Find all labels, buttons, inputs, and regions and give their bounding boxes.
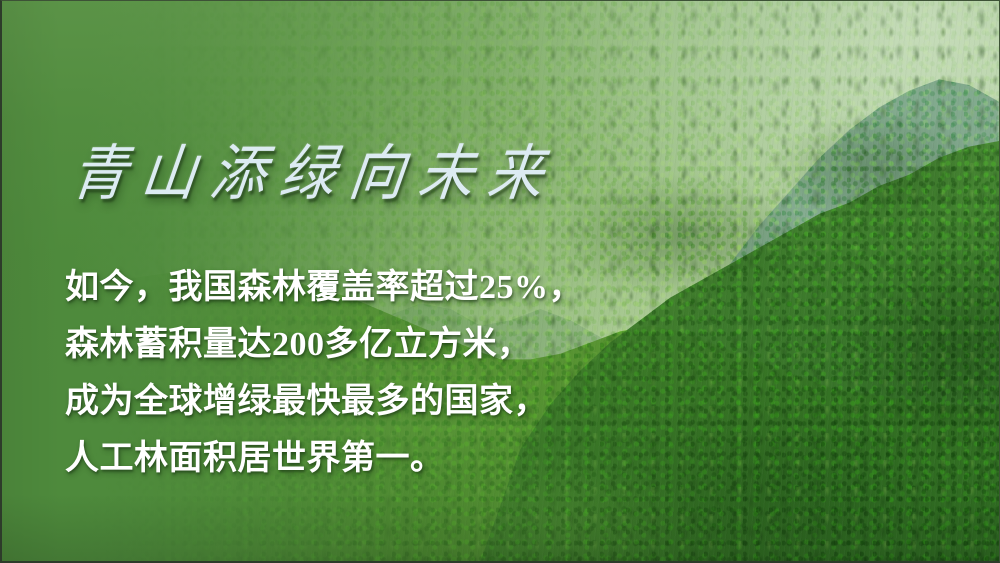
slide-body-text: 如今，我国森林覆盖率超过25%， 森林蓄积量达200多亿立方米， 成为全球增绿最… [65,259,583,487]
slide-canvas: 青山添绿向未来 如今，我国森林覆盖率超过25%， 森林蓄积量达200多亿立方米，… [0,0,1000,563]
slide-title: 青山添绿向未来 [68,144,561,204]
body-line-3: 成为全球增绿最快最多的国家， [65,373,583,430]
body-line-1: 如今，我国森林覆盖率超过25%， [65,259,583,316]
body-line-4: 人工林面积居世界第一。 [65,430,583,487]
body-line-2: 森林蓄积量达200多亿立方米， [65,316,583,373]
